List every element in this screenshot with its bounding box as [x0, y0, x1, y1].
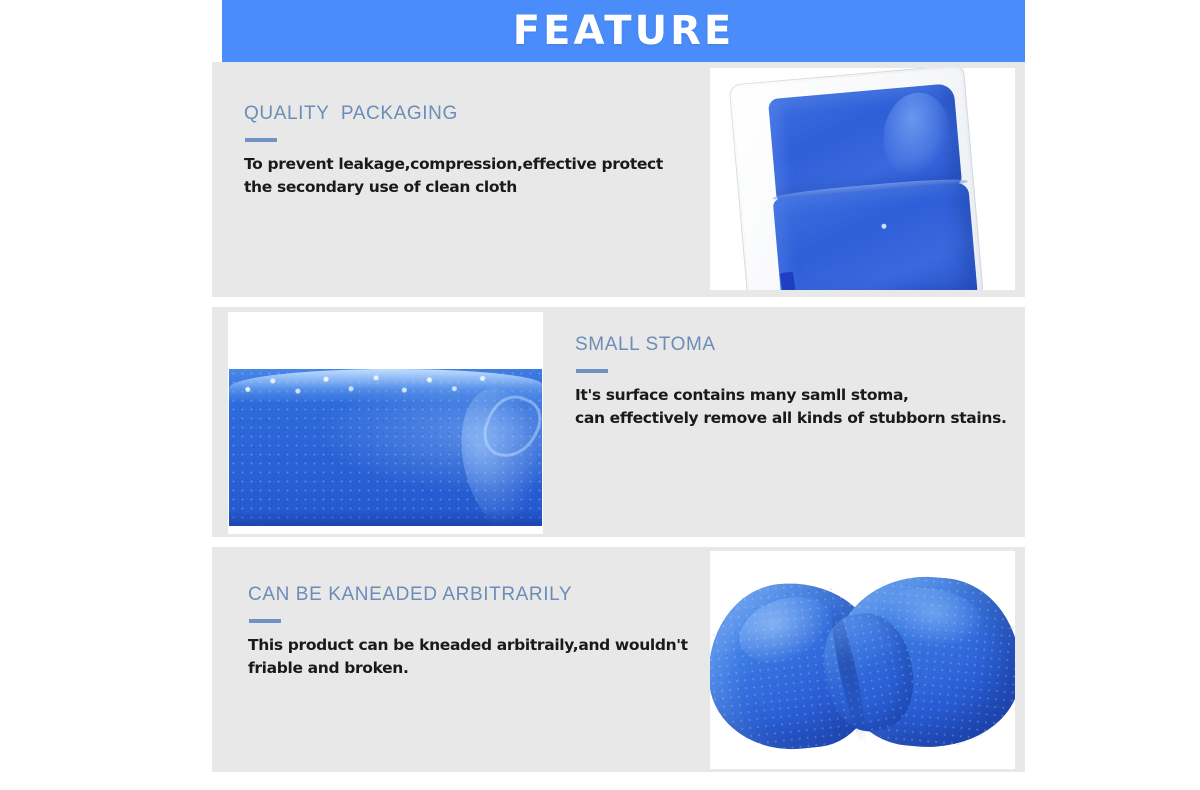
feature-infographic-page: FEATURE QUALITY PACKAGING To prevent lea… — [0, 0, 1200, 790]
feature-text-block: QUALITY PACKAGING To prevent leakage,com… — [244, 104, 674, 199]
feature-panel-quality-packaging: QUALITY PACKAGING To prevent leakage,com… — [212, 62, 1025, 297]
twisted-kneaded-blue-gel-photo — [710, 551, 1015, 769]
body-line: the secondary use of clean cloth — [244, 176, 674, 199]
feature-text-block: SMALL STOMA It's surface contains many s… — [575, 335, 1005, 430]
feature-body: It's surface contains many samll stoma, … — [575, 384, 1005, 430]
feature-header-banner: FEATURE — [222, 0, 1025, 62]
title-accent-rule — [576, 369, 608, 373]
body-line: To prevent leakage,compression,effective… — [244, 153, 674, 176]
blister-packed-blue-cleaning-gel-photo — [710, 68, 1015, 290]
feature-panel-small-stoma: SMALL STOMA It's surface contains many s… — [212, 307, 1025, 537]
title-accent-rule — [245, 138, 277, 142]
gel-macro-surface — [229, 369, 542, 526]
body-line: This product can be kneaded arbitraily,a… — [248, 634, 688, 657]
feature-title: QUALITY PACKAGING — [244, 104, 674, 125]
body-line: can effectively remove all kinds of stub… — [575, 407, 1005, 430]
plastic-blister-tray — [729, 68, 984, 290]
gel-block-lower — [773, 182, 978, 290]
feature-text-block: CAN BE KANEADED ARBITRARILY This product… — [248, 585, 688, 680]
page-title: FEATURE — [513, 11, 734, 51]
kneaded-gel-mass — [714, 573, 1011, 749]
feature-title: CAN BE KANEADED ARBITRARILY — [248, 585, 688, 606]
gel-shadow-base — [229, 510, 542, 526]
feature-title: SMALL STOMA — [575, 335, 1005, 356]
feature-panel-kneaded-arbitrarily: CAN BE KANEADED ARBITRARILY This product… — [212, 547, 1025, 772]
feature-body: This product can be kneaded arbitraily,a… — [248, 634, 688, 680]
body-line: friable and broken. — [248, 657, 688, 680]
feature-body: To prevent leakage,compression,effective… — [244, 153, 674, 199]
title-accent-rule — [249, 619, 281, 623]
blue-gel-porous-surface-closeup-photo — [228, 312, 543, 534]
body-line: It's surface contains many samll stoma, — [575, 384, 1005, 407]
